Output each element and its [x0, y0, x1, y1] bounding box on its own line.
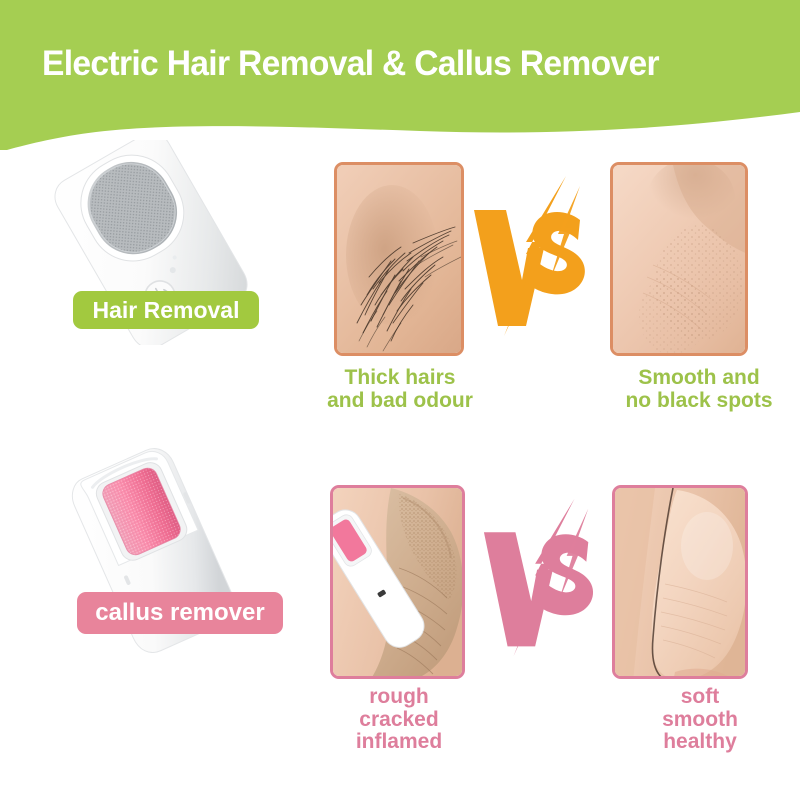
- caption-line: no black spots: [598, 390, 800, 413]
- caption-line: inflamed: [300, 731, 498, 754]
- badge-hair-removal[interactable]: Hair Removal: [73, 291, 259, 329]
- badge-callus-remover-label: callus remover: [95, 599, 264, 627]
- caption-after-callus: soft smooth healthy: [600, 686, 800, 754]
- caption-before-callus: rough cracked inflamed: [300, 686, 498, 754]
- badge-callus-remover[interactable]: callus remover: [77, 592, 283, 634]
- vs-mark-pink: [480, 495, 606, 660]
- photo-cracked-heel-with-device: [330, 485, 465, 679]
- caption-line: cracked: [300, 709, 498, 732]
- badge-hair-removal-label: Hair Removal: [92, 297, 239, 324]
- caption-line: and bad odour: [300, 390, 500, 413]
- page-title: Electric Hair Removal & Callus Remover: [42, 44, 752, 84]
- caption-line: Smooth and: [598, 367, 800, 390]
- photo-underarm-smooth: [610, 162, 748, 356]
- caption-line: healthy: [600, 731, 800, 754]
- caption-line: smooth: [600, 709, 800, 732]
- vs-mark-orange: [470, 176, 598, 336]
- caption-line: rough: [300, 686, 498, 709]
- photo-smooth-foot-sole: [612, 485, 748, 679]
- header-band: Electric Hair Removal & Callus Remover: [0, 0, 800, 150]
- caption-after-hair: Smooth and no black spots: [598, 367, 800, 412]
- caption-before-hair: Thick hairs and bad odour: [300, 367, 500, 412]
- photo-underarm-thick-hair: [334, 162, 464, 356]
- caption-line: soft: [600, 686, 800, 709]
- caption-line: Thick hairs: [300, 367, 500, 390]
- infographic-canvas: Electric Hair Removal & Callus Remover: [0, 0, 800, 800]
